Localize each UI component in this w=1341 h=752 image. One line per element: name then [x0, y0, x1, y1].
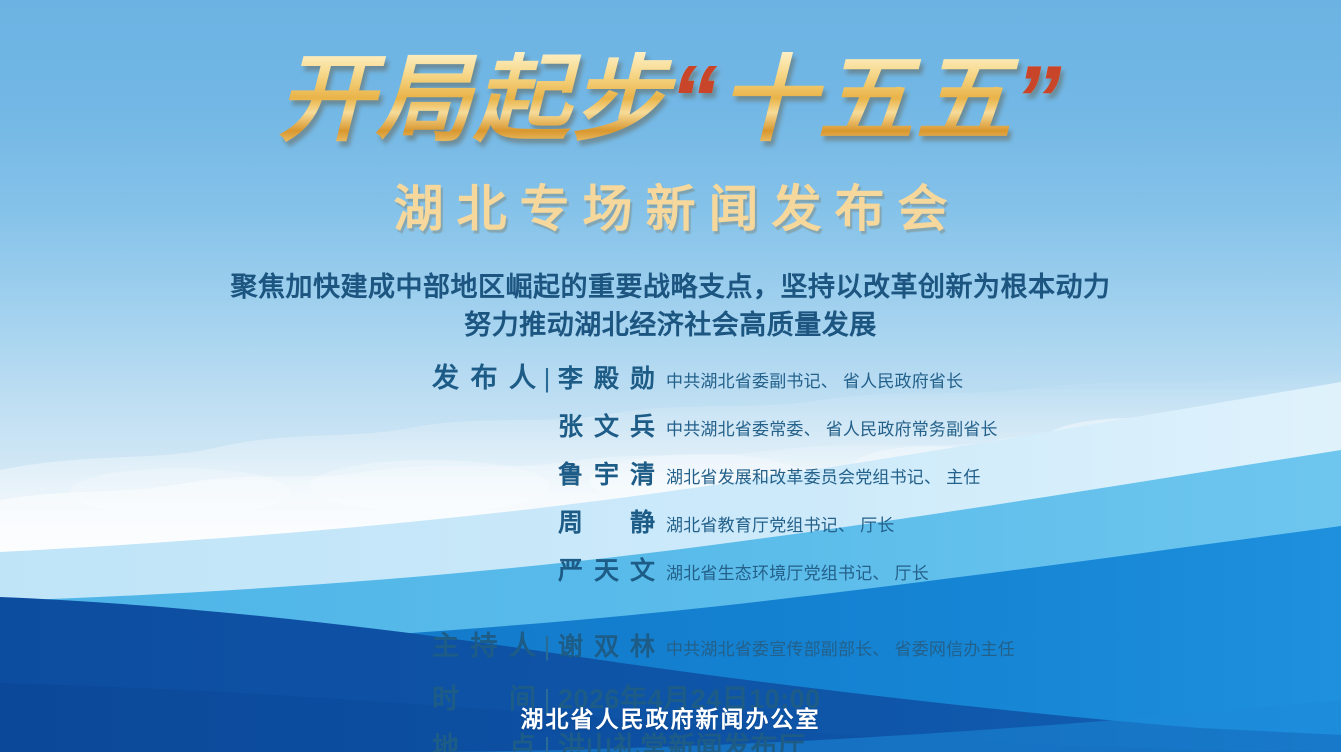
info-block: 发布人 | 李殿勋 中共湖北省委副书记、 省人民政府省长 发布人 | 张文兵 中…	[0, 356, 1341, 752]
footer-organization: 湖北省人民政府新闻办公室	[0, 700, 1341, 734]
host-title: 中共湖北省委宣传部副部长、 省委网信办主任	[655, 635, 1015, 660]
speaker-title: 中共湖北省委副书记、 省人民政府省长	[655, 367, 963, 392]
speaker-row: 发布人 | 周静 湖北省教育厅党组书记、 厅长	[0, 500, 1341, 539]
speakers-label: 发布人	[432, 356, 536, 395]
speaker-name: 李殿勋	[558, 359, 655, 395]
speaker-title: 中共湖北省委常委、 省人民政府常务副省长	[655, 415, 998, 440]
main-title-quoted: 十五五	[720, 46, 1014, 153]
quote-close-mark: ”	[1014, 46, 1064, 153]
quote-open-mark: “	[670, 46, 720, 153]
row-divider: |	[536, 631, 558, 662]
tagline-line-2: 努力推动湖北经济社会高质量发展	[0, 306, 1341, 344]
speaker-row: 发布人 | 李殿勋 中共湖北省委副书记、 省人民政府省长	[0, 356, 1341, 395]
speaker-title: 湖北省教育厅党组书记、 厅长	[655, 511, 895, 536]
speaker-list: 发布人 | 李殿勋 中共湖北省委副书记、 省人民政府省长 发布人 | 张文兵 中…	[0, 356, 1341, 587]
speaker-title: 湖北省发展和改革委员会党组书记、 主任	[655, 463, 981, 488]
speaker-name: 严天文	[558, 551, 655, 587]
tagline: 聚焦加快建成中部地区崛起的重要战略支点，坚持以改革创新为根本动力 努力推动湖北经…	[0, 268, 1341, 344]
speaker-row: 发布人 | 张文兵 中共湖北省委常委、 省人民政府常务副省长	[0, 404, 1341, 443]
sub-title: 湖北专场新闻发布会	[0, 184, 1341, 234]
speaker-name: 张文兵	[558, 407, 655, 443]
main-title: 开局起步“十五五”	[0, 52, 1341, 148]
tagline-line-1: 聚焦加快建成中部地区崛起的重要战略支点，坚持以改革创新为根本动力	[0, 268, 1341, 306]
speaker-name: 周静	[558, 503, 655, 539]
speaker-row: 发布人 | 鲁宇清 湖北省发展和改革委员会党组书记、 主任	[0, 452, 1341, 491]
row-divider: |	[536, 363, 558, 394]
section-gap	[0, 596, 1341, 624]
host-row: 主持人 | 谢双林 中共湖北省委宣传部副部长、 省委网信办主任	[0, 624, 1341, 663]
news-conference-poster: 开局起步“十五五” 湖北专场新闻发布会 聚焦加快建成中部地区崛起的重要战略支点，…	[0, 0, 1341, 752]
host-label: 主持人	[432, 624, 536, 663]
speaker-title: 湖北省生态环境厅党组书记、 厅长	[655, 559, 929, 584]
row-divider: |	[536, 732, 558, 752]
main-title-before-quote: 开局起步	[278, 46, 670, 153]
speaker-row: 发布人 | 严天文 湖北省生态环境厅党组书记、 厅长	[0, 548, 1341, 587]
host-name: 谢双林	[558, 627, 655, 663]
speaker-name: 鲁宇清	[558, 455, 655, 491]
